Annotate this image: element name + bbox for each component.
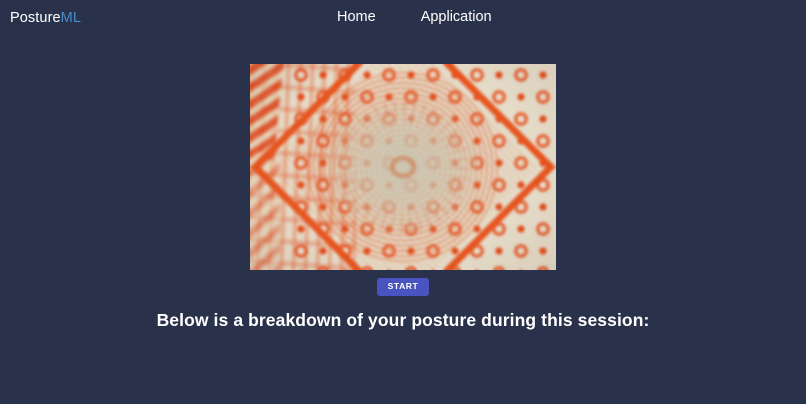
brand-primary-text: Posture — [10, 10, 61, 26]
nav-links: Home Application — [337, 7, 492, 28]
navbar: PostureML Home Application — [0, 0, 806, 36]
main-content: START Below is a breakdown of your postu… — [0, 36, 806, 404]
video-layer-center-dot — [390, 156, 416, 178]
breakdown-heading: Below is a breakdown of your posture dur… — [0, 308, 806, 332]
nav-link-application[interactable]: Application — [421, 7, 492, 28]
nav-link-home[interactable]: Home — [337, 7, 376, 28]
start-button[interactable]: START — [377, 278, 430, 296]
start-button-row: START — [0, 276, 806, 296]
webcam-video-feed[interactable] — [250, 64, 556, 270]
brand-accent-text: ML — [61, 10, 81, 26]
brand-logo[interactable]: PostureML — [10, 8, 81, 28]
webcam-frame — [250, 64, 556, 270]
